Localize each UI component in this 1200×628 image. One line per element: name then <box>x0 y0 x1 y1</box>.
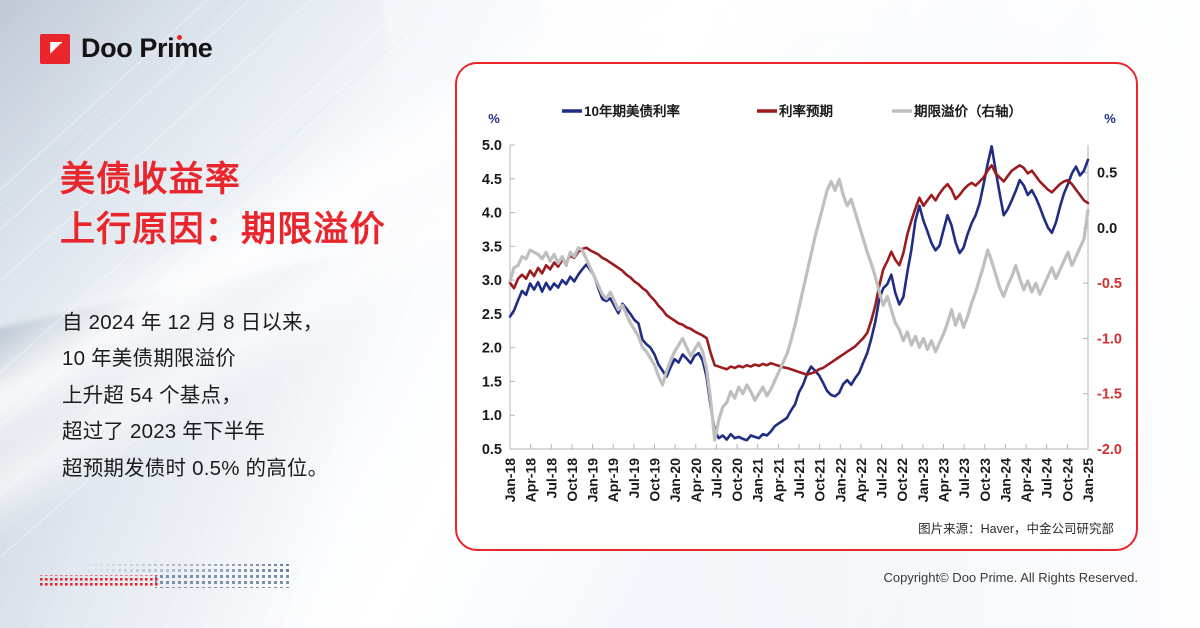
svg-text:Oct-18: Oct-18 <box>564 458 580 502</box>
svg-text:Oct-20: Oct-20 <box>729 458 745 502</box>
svg-text:1.0: 1.0 <box>482 408 502 424</box>
svg-text:Jul-18: Jul-18 <box>543 458 559 499</box>
svg-text:2.5: 2.5 <box>482 307 502 323</box>
svg-text:%: % <box>1104 111 1116 126</box>
body-copy: 自 2024 年 12 月 8 日以来， 10 年美债期限溢价 上升超 54 个… <box>62 305 462 487</box>
svg-text:Jul-22: Jul-22 <box>874 458 890 499</box>
logo-i-dot-icon <box>177 35 182 40</box>
svg-text:10年期美债利率: 10年期美债利率 <box>584 103 681 119</box>
svg-text:3.5: 3.5 <box>482 239 502 255</box>
logo-wordmark: Doo Prime <box>81 33 212 64</box>
svg-text:Apr-21: Apr-21 <box>770 458 786 503</box>
svg-text:Jul-19: Jul-19 <box>626 458 642 499</box>
copyright-text: Copyright© Doo Prime. All Rights Reserve… <box>883 570 1138 585</box>
svg-text:期限溢价（右轴）: 期限溢价（右轴） <box>914 103 1022 119</box>
svg-text:Jan-21: Jan-21 <box>750 458 766 503</box>
svg-text:Apr-18: Apr-18 <box>523 458 539 503</box>
svg-text:Jul-23: Jul-23 <box>956 458 972 499</box>
body-copy-line-2: 10 年美债期限溢价 <box>62 341 462 377</box>
svg-text:4.5: 4.5 <box>482 172 502 188</box>
svg-text:Jan-20: Jan-20 <box>667 458 683 503</box>
page-title-line-2: 上行原因：期限溢价 <box>60 205 460 255</box>
svg-text:0.5: 0.5 <box>482 442 502 458</box>
doo-prime-mark-icon <box>40 34 70 64</box>
page-title-line-1: 美债收益率 <box>60 155 460 205</box>
body-copy-line-5: 超预期发债时 0.5% 的高位。 <box>62 451 462 487</box>
svg-text:-2.0: -2.0 <box>1097 442 1122 458</box>
body-copy-line-3: 上升超 54 个基点， <box>62 378 462 414</box>
svg-text:0.5: 0.5 <box>1097 166 1117 182</box>
svg-text:3.0: 3.0 <box>482 273 502 289</box>
svg-text:4.0: 4.0 <box>482 206 502 222</box>
svg-text:-0.5: -0.5 <box>1097 276 1122 292</box>
line-chart: 0.51.01.52.02.53.03.54.04.55.0%-2.0-1.5-… <box>457 64 1140 553</box>
chart-source-note: 图片来源：Haver，中金公司研究部 <box>918 518 1114 537</box>
svg-text:Oct-19: Oct-19 <box>647 458 663 502</box>
chart-card: 0.51.01.52.02.53.03.54.04.55.0%-2.0-1.5-… <box>455 62 1138 551</box>
svg-text:Jul-21: Jul-21 <box>791 458 807 499</box>
svg-text:Apr-23: Apr-23 <box>936 458 952 503</box>
svg-text:Jan-19: Jan-19 <box>585 458 601 503</box>
svg-text:-1.0: -1.0 <box>1097 331 1122 347</box>
svg-text:Jan-23: Jan-23 <box>915 458 931 503</box>
svg-text:Jan-24: Jan-24 <box>997 458 1013 503</box>
svg-text:Apr-22: Apr-22 <box>853 458 869 503</box>
logo-wordmark-text: Doo Prime <box>81 33 212 63</box>
svg-text:Oct-23: Oct-23 <box>977 458 993 502</box>
svg-text:Oct-21: Oct-21 <box>812 458 828 502</box>
body-copy-line-1: 自 2024 年 12 月 8 日以来， <box>62 305 462 341</box>
svg-text:Jan-18: Jan-18 <box>502 458 518 503</box>
brand-logo: Doo Prime <box>40 33 212 64</box>
svg-text:Jul-20: Jul-20 <box>708 458 724 499</box>
body-copy-line-4: 超过了 2023 年下半年 <box>62 414 462 450</box>
svg-text:Jul-24: Jul-24 <box>1039 458 1055 499</box>
svg-text:Apr-20: Apr-20 <box>688 458 704 503</box>
svg-text:Oct-24: Oct-24 <box>1059 458 1075 502</box>
svg-text:1.5: 1.5 <box>482 374 502 390</box>
svg-text:利率预期: 利率预期 <box>779 103 833 119</box>
svg-text:-1.5: -1.5 <box>1097 387 1122 403</box>
svg-text:2.0: 2.0 <box>482 341 502 357</box>
svg-text:Jan-22: Jan-22 <box>832 458 848 503</box>
page-title: 美债收益率 上行原因：期限溢价 <box>60 155 460 254</box>
svg-text:Oct-22: Oct-22 <box>894 458 910 502</box>
svg-text:Apr-19: Apr-19 <box>605 458 621 503</box>
svg-text:Apr-24: Apr-24 <box>1018 458 1034 503</box>
svg-text:%: % <box>488 111 500 126</box>
svg-text:0.0: 0.0 <box>1097 221 1117 237</box>
svg-text:Jan-25: Jan-25 <box>1080 458 1096 503</box>
svg-text:5.0: 5.0 <box>482 138 502 154</box>
halftone-decoration <box>40 563 290 589</box>
